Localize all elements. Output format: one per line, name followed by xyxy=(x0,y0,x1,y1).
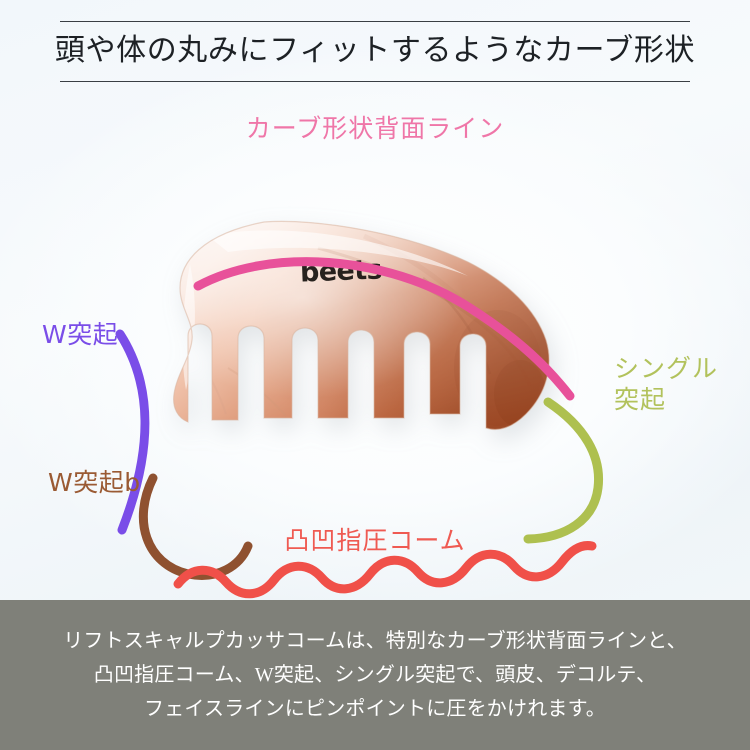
annotation-label-single-protrusion-line2: 突起 xyxy=(614,385,718,416)
product-photo-stage: beets カーブ形状背面ライン W突起 W突起b シングル 突起 凸凹指圧コー… xyxy=(0,96,750,600)
marker-curve-back-line xyxy=(198,262,570,396)
header: 頭や体の丸みにフィットするようなカーブ形状 xyxy=(0,0,750,96)
caption-line-1: リフトスキャルプカッサコームは、特別なカーブ形状背面ラインと、 xyxy=(63,624,687,658)
header-rule-top xyxy=(60,21,690,22)
annotation-label-w-protrusion-b: W突起b xyxy=(48,468,141,499)
marker-single-protrusion xyxy=(528,402,599,539)
header-rule-bottom xyxy=(60,81,690,82)
annotation-label-w-protrusion: W突起 xyxy=(42,320,118,351)
page-title: 頭や体の丸みにフィットするようなカーブ形状 xyxy=(0,28,750,74)
caption-line-2: 凸凹指圧コーム、W突起、シングル突起で、頭皮、デコルテ、 xyxy=(94,658,656,692)
caption-band: リフトスキャルプカッサコームは、特別なカーブ形状背面ラインと、 凸凹指圧コーム、… xyxy=(0,600,750,750)
annotation-label-curve-back-line: カーブ形状背面ライン xyxy=(0,114,750,145)
annotation-label-textured-comb: 凸凹指圧コーム xyxy=(0,526,750,557)
product-feature-infographic: 頭や体の丸みにフィットするようなカーブ形状 xyxy=(0,0,750,750)
annotation-label-single-protrusion-line1: シングル xyxy=(614,354,718,385)
caption-line-3: フェイスラインにピンポイントに圧をかけれます。 xyxy=(144,692,606,726)
annotation-label-single-protrusion: シングル 突起 xyxy=(614,354,718,415)
